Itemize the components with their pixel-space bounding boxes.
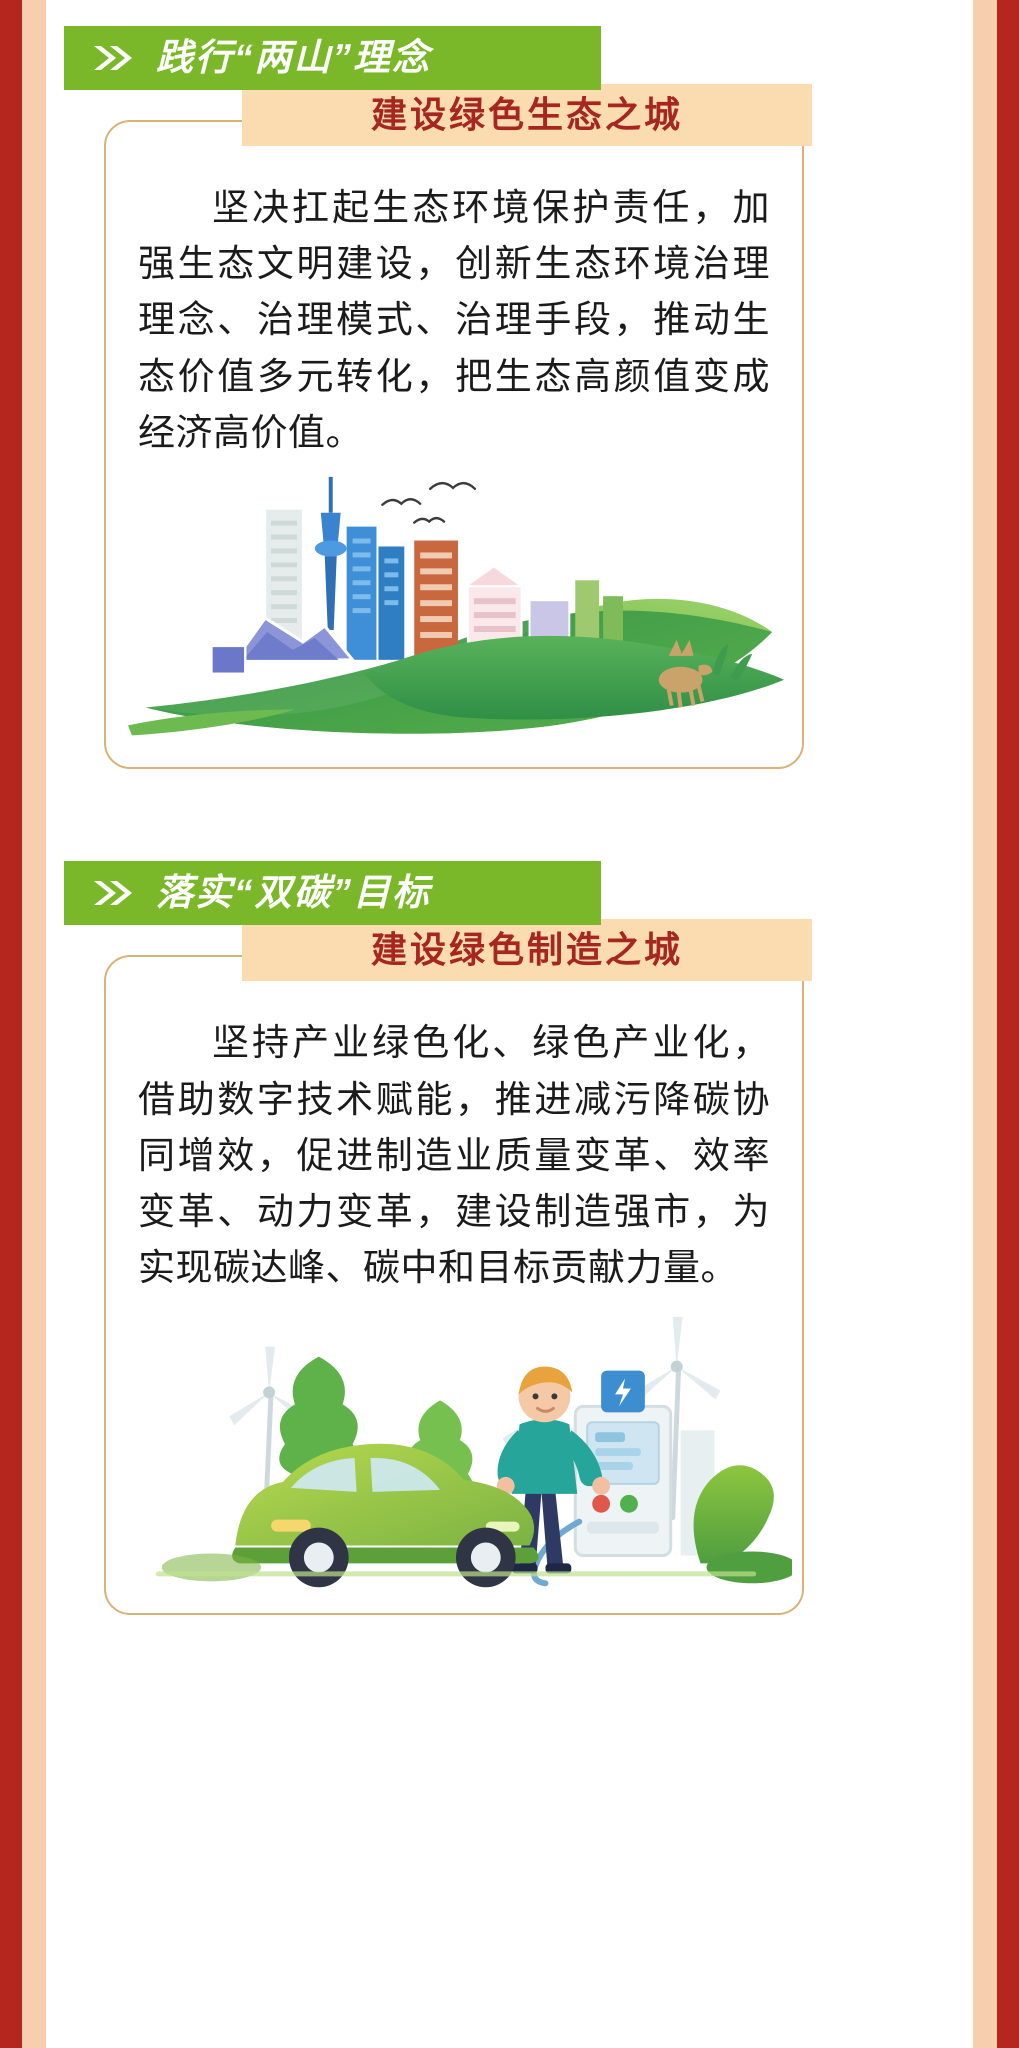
section-subtitle-band-2: 建设绿色制造之城 [242, 919, 812, 981]
section-green-ecology: 践行“两山”理念 建设绿色生态之城 坚决扛起生态环境保护责任，加强生态文明建设，… [46, 0, 973, 769]
section-card-1: 坚决扛起生态环境保护责任，加强生态文明建设，创新生态环境治理理念、治理模式、治理… [104, 120, 804, 769]
section-spacer [46, 769, 973, 861]
double-chevron-right-icon [92, 878, 134, 908]
double-chevron-right-icon [92, 43, 134, 73]
section-green-manufacturing: 落实“双碳”目标 建设绿色制造之城 坚持产业绿色化、绿色产业化，借助数字技术赋能… [46, 861, 973, 1614]
section-body-1: 坚决扛起生态环境保护责任，加强生态文明建设，创新生态环境治理理念、治理模式、治理… [116, 180, 792, 461]
ev-charging-illustration [116, 1297, 792, 1595]
section-subtitle-band-1: 建设绿色生态之城 [242, 84, 812, 146]
section-ribbon-header-2: 落实“双碳”目标 [64, 861, 601, 925]
section-card-2: 坚持产业绿色化、绿色产业化，借助数字技术赋能，推进减污降碳协同增效，促进制造业质… [104, 955, 804, 1614]
section-body-2: 坚持产业绿色化、绿色产业化，借助数字技术赋能，推进减污降碳协同增效，促进制造业质… [116, 1015, 792, 1296]
poster-page: 践行“两山”理念 建设绿色生态之城 坚决扛起生态环境保护责任，加强生态文明建设，… [0, 0, 1019, 2048]
section-ribbon-title-1: 践行“两山”理念 [156, 39, 431, 78]
poster-inner-border: 践行“两山”理念 建设绿色生态之城 坚决扛起生态环境保护责任，加强生态文明建设，… [22, 0, 997, 2048]
poster-canvas: 践行“两山”理念 建设绿色生态之城 坚决扛起生态环境保护责任，加强生态文明建设，… [46, 0, 973, 2048]
leaf-city-illustration [116, 461, 792, 749]
section-ribbon-title-2: 落实“双碳”目标 [156, 874, 431, 913]
section-subtitle-1: 建设绿色生态之城 [371, 97, 683, 133]
section-subtitle-2: 建设绿色制造之城 [371, 932, 683, 968]
section-ribbon-header-1: 践行“两山”理念 [64, 26, 601, 90]
